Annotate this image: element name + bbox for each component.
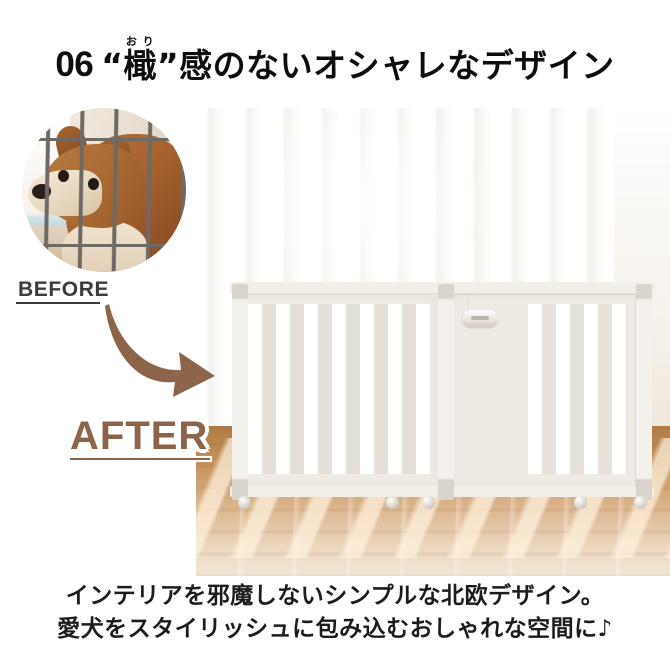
- after-label: AFTER: [70, 414, 208, 459]
- section-title: “檝おり”感のないオシャレなデザイン: [101, 35, 614, 82]
- kanji-base: 檝: [123, 46, 157, 85]
- caster-wheel-icon: [386, 496, 399, 509]
- playpen-panel-left: [234, 288, 444, 496]
- ruby-text: おり: [123, 35, 157, 48]
- footer-line-2: 愛犬をスタイリッシュに包み込むおしゃれな空間に♪: [0, 613, 670, 646]
- playpen-post-left: [232, 284, 248, 500]
- caster-wheel-icon: [634, 496, 647, 509]
- pet-playpen: [234, 288, 650, 504]
- footer-caption: インテリアを邪魔しないシンプルな北欧デザイン。 愛犬をスタイリッシュに包み込むお…: [0, 580, 670, 645]
- section-title-rest: 感のないオシャレなデザイン: [179, 49, 615, 82]
- panel-slats: [248, 304, 430, 474]
- cage-horizontal-bar: [22, 244, 186, 247]
- curved-arrow-right-icon: [103, 300, 219, 400]
- caster-wheel-icon: [422, 496, 435, 509]
- page-title: 06 “檝おり”感のないオシャレなデザイン: [0, 22, 670, 84]
- caster-wheel-icon: [238, 496, 251, 509]
- before-label: BEFORE: [18, 278, 109, 302]
- before-label-underline: [16, 302, 100, 304]
- playpen-post-right: [636, 284, 652, 500]
- quote-open: “: [101, 49, 123, 82]
- quote-close: ”: [157, 49, 179, 82]
- cage-horizontal-bar: [22, 138, 186, 141]
- gate-latch-icon: [462, 310, 498, 327]
- caster-wheel-icon: [574, 496, 587, 509]
- footer-line-1: インテリアを邪魔しないシンプルな北欧デザイン。: [0, 580, 670, 613]
- cage-bars-icon: [22, 108, 186, 272]
- section-number: 06: [55, 47, 93, 82]
- kanji-with-ruby: 檝おり: [123, 35, 157, 82]
- before-photo-circle: [22, 108, 186, 272]
- after-label-underline: [70, 458, 210, 460]
- playpen-post-middle: [438, 284, 454, 500]
- after-product-photo: [196, 108, 670, 576]
